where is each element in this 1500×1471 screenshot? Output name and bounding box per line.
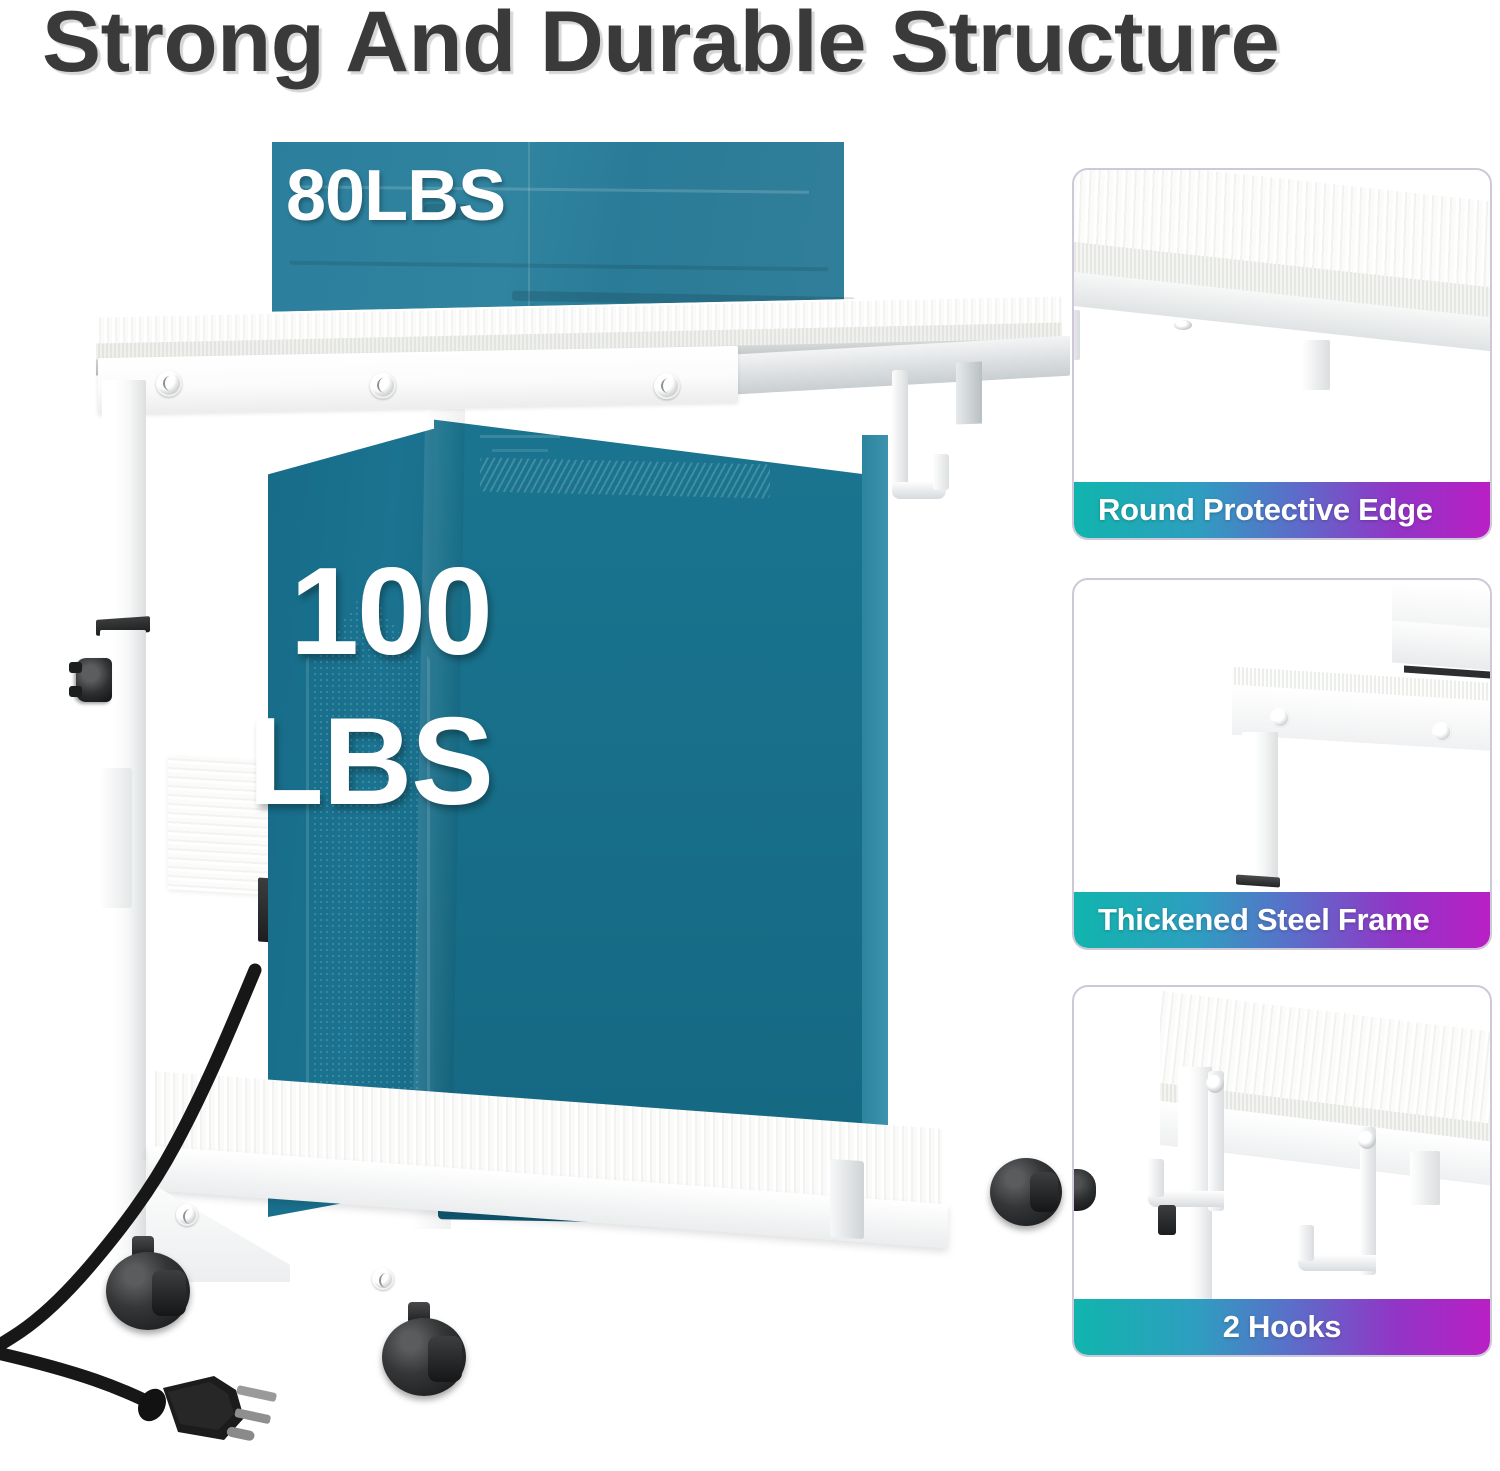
feature-panel-round-protective-edge: Round Protective Edge [1072, 168, 1492, 540]
tower-weight-unit: LBS [248, 700, 668, 824]
height-adjust-knob[interactable] [76, 658, 112, 702]
panel1-caption-text: Thickened Steel Frame [1074, 902, 1429, 938]
hook-icon [1360, 1127, 1376, 1275]
printer-panel-divider [528, 142, 530, 314]
product-infographic: Strong And Durable Structure 80LBS [0, 0, 1500, 1471]
feature-panel-2-hooks: 2 Hooks [1072, 985, 1492, 1357]
main-product-image: 80LBS [0, 100, 1060, 1471]
panel1-screw [1432, 722, 1452, 742]
page-title: Strong And Durable Structure [42, 0, 1500, 90]
mid-shelf-bracket [102, 768, 132, 908]
panel2-caption-bar: 2 Hooks [1074, 1299, 1490, 1355]
panel0-caption-text: Round Protective Edge [1074, 492, 1433, 528]
hook-tip [1298, 1225, 1314, 1261]
right-extension-post [956, 362, 982, 425]
panel0-leg-stub [1074, 310, 1080, 360]
side-hook-tip [933, 454, 949, 490]
side-hook-icon [892, 370, 908, 498]
panel1-caption-bar: Thickened Steel Frame [1074, 892, 1490, 948]
shelf-screw [372, 1268, 394, 1290]
panel2-clip [1158, 1205, 1176, 1235]
tower-seam [492, 449, 548, 452]
panel2-post [1178, 1067, 1212, 1307]
printer-weight-label: 80LBS [286, 160, 505, 232]
panel1-screw [1270, 708, 1290, 728]
shelf-screw [176, 1204, 198, 1226]
panel1-steel-leg [1242, 732, 1278, 880]
panel2-screw [1206, 1075, 1224, 1093]
caster-wheel [382, 1318, 466, 1402]
panel2-screw [1358, 1131, 1376, 1149]
tower-weight-number: 100 [290, 550, 630, 674]
caster-wheel [990, 1158, 1062, 1230]
caster-hub [152, 1270, 186, 1316]
apron-screw [156, 371, 182, 397]
panel2-caster [1074, 1169, 1096, 1211]
shelf-foot-pad [830, 1159, 864, 1239]
feature-panel-thickened-steel-frame: Thickened Steel Frame [1072, 578, 1492, 950]
panel0-screw [1174, 320, 1192, 330]
caster-wheel [106, 1252, 190, 1336]
left-post-lower [100, 630, 146, 1190]
left-post-upper [102, 380, 146, 630]
caster-hub [1030, 1172, 1058, 1212]
panel0-leg [1302, 340, 1330, 390]
tower-right-edge [862, 435, 888, 1215]
panel0-caption-bar: Round Protective Edge [1074, 482, 1490, 538]
tower-top-vent [480, 457, 770, 498]
panel2-leg [1410, 1151, 1440, 1205]
caster-hub [428, 1336, 462, 1382]
tower-seam [480, 435, 560, 438]
hook-tip [1148, 1159, 1164, 1197]
panel1-foot-pad [1236, 874, 1280, 887]
panel2-caption-text: 2 Hooks [1223, 1309, 1342, 1345]
